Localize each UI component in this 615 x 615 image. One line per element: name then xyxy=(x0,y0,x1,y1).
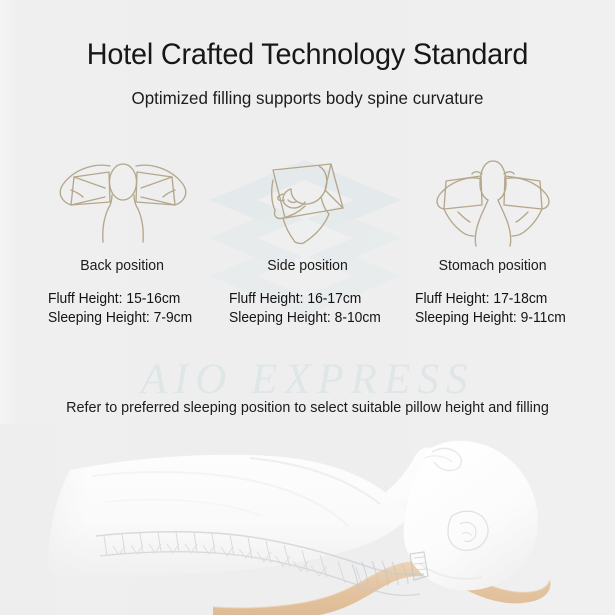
fluff-height-value: Fluff Height: 16-17cm xyxy=(229,290,381,309)
position-label: Side position xyxy=(267,258,348,274)
head-shape xyxy=(404,441,538,591)
position-card-side: Side position Fluff Height: 16-17cm Slee… xyxy=(215,150,400,328)
hero-illustration xyxy=(0,424,615,615)
sleeping-height-value: Sleeping Height: 8-10cm xyxy=(229,309,381,328)
position-specs: Fluff Height: 16-17cm Sleeping Height: 8… xyxy=(229,290,386,328)
position-card-stomach: Stomach position Fluff Height: 17-18cm S… xyxy=(400,150,585,328)
position-label: Back position xyxy=(81,258,165,274)
side-sleeping-position-icon xyxy=(233,150,383,250)
sleeping-positions-row: Back position Fluff Height: 15-16cm Slee… xyxy=(0,150,615,340)
stomach-sleeping-position-icon xyxy=(418,150,568,250)
sleeping-height-value: Sleeping Height: 7-9cm xyxy=(48,309,192,328)
fluff-height-value: Fluff Height: 17-18cm xyxy=(415,290,566,309)
position-specs: Fluff Height: 17-18cm Sleeping Height: 9… xyxy=(415,290,571,328)
page-subtitle: Optimized filling supports body spine cu… xyxy=(9,88,606,109)
fluff-height-value: Fluff Height: 15-16cm xyxy=(48,290,192,309)
instruction-text: Refer to preferred sleeping position to … xyxy=(9,400,606,416)
position-label: Stomach position xyxy=(439,258,547,274)
sleeping-height-value: Sleeping Height: 9-11cm xyxy=(415,309,566,328)
position-card-back: Back position Fluff Height: 15-16cm Slee… xyxy=(30,150,215,328)
product-infographic-page: AIO EXPRESS Hotel Crafted Technology Sta… xyxy=(0,0,615,615)
brand-text-watermark: AIO EXPRESS xyxy=(0,355,615,404)
page-title: Hotel Crafted Technology Standard xyxy=(12,38,602,72)
position-specs: Fluff Height: 15-16cm Sleeping Height: 7… xyxy=(48,290,197,328)
body-shape xyxy=(48,455,412,577)
back-sleeping-position-icon xyxy=(48,150,198,250)
